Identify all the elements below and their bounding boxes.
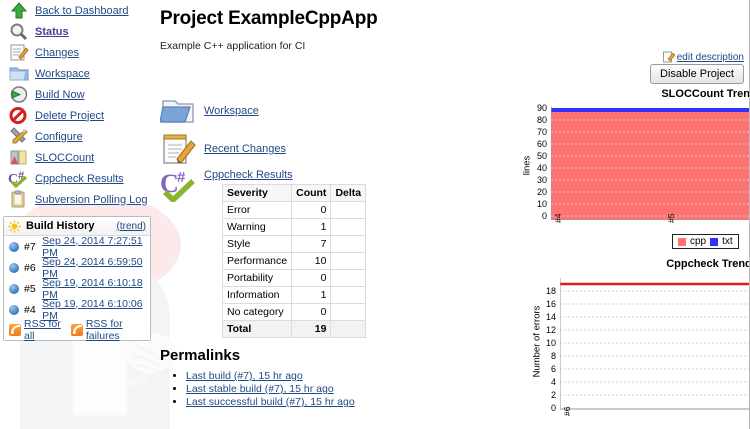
- build-clock-icon: [8, 85, 30, 104]
- sloccount-ytick: 90: [529, 103, 547, 113]
- notepad-pencil-icon: [8, 43, 30, 62]
- sidebar-item-back-to-dashboard[interactable]: Back to Dashboard: [0, 0, 152, 21]
- table-row: Error 0: [223, 202, 366, 219]
- edit-description-row[interactable]: edit description: [663, 51, 744, 63]
- sun-icon: [8, 220, 21, 233]
- build-history-trend-link[interactable]: (trend): [117, 221, 146, 232]
- cppcheck-block: C # Cppcheck Results Severity Count Delt…: [160, 168, 365, 202]
- wrench-screwdriver-icon: [8, 127, 30, 146]
- table-row: Information 1: [223, 287, 366, 304]
- build-history-row[interactable]: #7 Sep 24, 2014 7:27:51 PM: [4, 236, 150, 257]
- sloccount-ytick: 40: [529, 163, 547, 173]
- table-row: Warning 1: [223, 219, 366, 236]
- build-number: #5: [24, 283, 42, 295]
- sloccount-ytick: 60: [529, 139, 547, 149]
- folder-icon: [8, 64, 30, 83]
- cppcheck-ytick: 4: [538, 377, 556, 387]
- main-content: Project ExampleCppApp Example C++ applic…: [152, 0, 750, 429]
- build-history-rss-row: RSS for all RSS for failures: [4, 320, 150, 340]
- cppcheck-ytick: 12: [538, 325, 556, 335]
- cell-delta: [331, 236, 366, 253]
- recent-changes-link-row[interactable]: Recent Changes: [160, 130, 365, 168]
- build-history-row[interactable]: #4 Sep 19, 2014 6:10:06 PM: [4, 299, 150, 320]
- cppcheck-ytick: 6: [538, 364, 556, 374]
- cell-count: 10: [292, 253, 331, 270]
- build-history-header: Build History (trend): [4, 217, 150, 236]
- cppcheck-ytick: 8: [538, 351, 556, 361]
- sidebar-link-configure[interactable]: Configure: [35, 131, 83, 143]
- build-number: #7: [24, 241, 42, 253]
- sloccount-trend-chart: SLOCCount Trend lines 90 80 70 60 50 40 …: [520, 88, 750, 251]
- sidebar-link-workspace[interactable]: Workspace: [35, 68, 90, 80]
- list-item: Last stable build (#7), 15 hr ago: [186, 383, 390, 396]
- page-title: Project ExampleCppApp: [160, 8, 750, 30]
- project-links: Workspace Recent Changes: [160, 92, 365, 168]
- sidebar-item-status[interactable]: Status: [0, 21, 152, 42]
- permalink-last-build[interactable]: Last build (#7), 15 hr ago: [186, 370, 303, 382]
- sloccount-ytick: 30: [529, 175, 547, 185]
- legend-label-cpp: cpp: [690, 236, 706, 247]
- cell-severity: No category: [223, 304, 292, 321]
- list-item: Last build (#7), 15 hr ago: [186, 370, 390, 383]
- sidebar-item-changes[interactable]: Changes: [0, 42, 152, 63]
- cell-severity: Portability: [223, 270, 292, 287]
- table-row: Portability 0: [223, 270, 366, 287]
- column-severity: Severity: [223, 185, 292, 202]
- edit-description-link[interactable]: edit description: [677, 52, 744, 63]
- cell-delta: [331, 304, 366, 321]
- cppcheck-trend-chart: Cppcheck Trend Number of errors 18 16 14…: [520, 258, 750, 429]
- workspace-link-row[interactable]: Workspace: [160, 92, 365, 130]
- sidebar-item-cppcheck-results[interactable]: C # Cppcheck Results: [0, 168, 152, 189]
- permalink-last-stable-build[interactable]: Last stable build (#7), 15 hr ago: [186, 383, 334, 395]
- cell-total-label: Total: [223, 321, 292, 338]
- cell-count: 1: [292, 219, 331, 236]
- build-status-ball-icon: [9, 263, 19, 273]
- cell-severity: Error: [223, 202, 292, 219]
- cppcheck-ytick: 18: [538, 286, 556, 296]
- cell-delta: [331, 219, 366, 236]
- cell-total-count: 19: [292, 321, 331, 338]
- sidebar-item-workspace[interactable]: Workspace: [0, 63, 152, 84]
- folder-open-icon: [160, 94, 198, 128]
- sidebar-link-changes[interactable]: Changes: [35, 47, 79, 59]
- column-count: Count: [292, 185, 331, 202]
- cppcheck-ytick: 0: [538, 403, 556, 413]
- cpp-check-icon: C #: [160, 168, 198, 202]
- rss-icon: [9, 324, 21, 336]
- sloccount-ytick: 10: [529, 199, 547, 209]
- sidebar-item-delete-project[interactable]: Delete Project: [0, 105, 152, 126]
- sloccount-ytick: 20: [529, 187, 547, 197]
- build-number: #4: [24, 304, 42, 316]
- sidebar-link-build-now[interactable]: Build Now: [35, 89, 85, 101]
- sloccount-chart-icon: [8, 148, 30, 167]
- sloccount-plot-area: [551, 106, 750, 220]
- sloccount-legend: cpp txt: [672, 234, 739, 249]
- cell-severity: Information: [223, 287, 292, 304]
- up-arrow-icon: [8, 1, 30, 20]
- sidebar-link-cppcheck-results[interactable]: Cppcheck Results: [35, 173, 124, 185]
- sidebar-link-subversion-polling-log[interactable]: Subversion Polling Log: [35, 194, 148, 206]
- cell-delta: [331, 253, 366, 270]
- cell-severity: Warning: [223, 219, 292, 236]
- cppcheck-xtick: #6: [562, 407, 572, 416]
- rss-for-all-link[interactable]: RSS for all: [24, 318, 68, 342]
- cppcheck-chart-title: Cppcheck Trend: [520, 258, 750, 270]
- cppcheck-plot-area: [560, 278, 750, 413]
- svg-text:#: #: [177, 169, 186, 186]
- cell-delta: [331, 287, 366, 304]
- workspace-link[interactable]: Workspace: [204, 105, 259, 117]
- sloccount-ytick: 70: [529, 127, 547, 137]
- build-history-row[interactable]: #6 Sep 24, 2014 6:59:50 PM: [4, 257, 150, 278]
- cell-delta: [331, 202, 366, 219]
- permalinks-list: Last build (#7), 15 hr ago Last stable b…: [160, 370, 390, 409]
- cell-count: 1: [292, 287, 331, 304]
- sloccount-chart-title: SLOCCount Trend: [520, 88, 750, 100]
- cpp-check-icon: C #: [8, 169, 30, 188]
- cppcheck-ytick: 2: [538, 390, 556, 400]
- sidebar-link-delete-project[interactable]: Delete Project: [35, 110, 104, 122]
- delete-forbidden-icon: [8, 106, 30, 125]
- cell-severity: Performance: [223, 253, 292, 270]
- page-description: Example C++ application for CI: [160, 40, 750, 52]
- cppcheck-results-link[interactable]: Cppcheck Results: [204, 169, 293, 181]
- sloccount-ytick: 50: [529, 151, 547, 161]
- sloccount-ytick: 0: [529, 211, 547, 221]
- sidebar-link-sloccount[interactable]: SLOCCount: [35, 152, 94, 164]
- list-item: Last successful build (#7), 15 hr ago: [186, 396, 390, 409]
- table-total-row: Total 19: [223, 321, 366, 338]
- sidebar-item-build-now[interactable]: Build Now: [0, 84, 152, 105]
- cell-count: 0: [292, 270, 331, 287]
- table-row: No category 0: [223, 304, 366, 321]
- cell-total-delta: [331, 321, 366, 338]
- build-status-ball-icon: [9, 305, 19, 315]
- sloccount-ytick: 80: [529, 115, 547, 125]
- disable-project-button[interactable]: Disable Project: [650, 64, 744, 84]
- build-number: #6: [24, 262, 42, 274]
- cell-severity: Style: [223, 236, 292, 253]
- build-status-ball-icon: [9, 242, 19, 252]
- cppcheck-ytick: 10: [538, 338, 556, 348]
- build-history-row[interactable]: #5 Sep 19, 2014 6:10:18 PM: [4, 278, 150, 299]
- sidebar-link-back-to-dashboard[interactable]: Back to Dashboard: [35, 5, 129, 17]
- cell-count: 0: [292, 304, 331, 321]
- legend-swatch-cpp: [678, 238, 686, 246]
- cppcheck-ytick: 16: [538, 299, 556, 309]
- rss-for-failures-link[interactable]: RSS for failures: [86, 318, 150, 342]
- sloccount-xtick: #4: [553, 214, 563, 223]
- table-row: Style 7: [223, 236, 366, 253]
- rss-icon: [71, 324, 83, 336]
- cell-count: 0: [292, 202, 331, 219]
- table-row: Performance 10: [223, 253, 366, 270]
- legend-label-txt: txt: [722, 236, 733, 247]
- recent-changes-link[interactable]: Recent Changes: [204, 143, 286, 155]
- cppcheck-severity-table: Severity Count Delta Error 0 Warning 1 S: [222, 184, 366, 338]
- legend-swatch-txt: [710, 238, 718, 246]
- table-header-row: Severity Count Delta: [223, 185, 366, 202]
- build-history-panel: Build History (trend) #7 Sep 24, 2014 7:…: [3, 216, 151, 341]
- permalinks-title: Permalinks: [160, 347, 390, 364]
- cell-delta: [331, 270, 366, 287]
- sloccount-xtick: #5: [666, 214, 676, 223]
- sidebar-link-status[interactable]: Status: [35, 26, 69, 38]
- column-delta: Delta: [331, 185, 366, 202]
- sidebar-item-sloccount[interactable]: SLOCCount: [0, 147, 152, 168]
- clipboard-icon: [8, 190, 30, 209]
- sidebar-item-configure[interactable]: Configure: [0, 126, 152, 147]
- sidebar: Back to Dashboard Status Changes Workspa…: [0, 0, 152, 429]
- permalinks-section: Permalinks Last build (#7), 15 hr ago La…: [160, 347, 390, 409]
- sidebar-item-subversion-polling-log[interactable]: Subversion Polling Log: [0, 189, 152, 210]
- cell-count: 7: [292, 236, 331, 253]
- notepad-pencil-icon: [160, 132, 198, 166]
- cppcheck-ytick: 14: [538, 312, 556, 322]
- build-history-title: Build History: [26, 220, 117, 232]
- edit-pencil-icon: [663, 51, 675, 63]
- build-status-ball-icon: [9, 284, 19, 294]
- permalink-last-successful-build[interactable]: Last successful build (#7), 15 hr ago: [186, 396, 355, 408]
- magnifier-icon: [8, 22, 30, 41]
